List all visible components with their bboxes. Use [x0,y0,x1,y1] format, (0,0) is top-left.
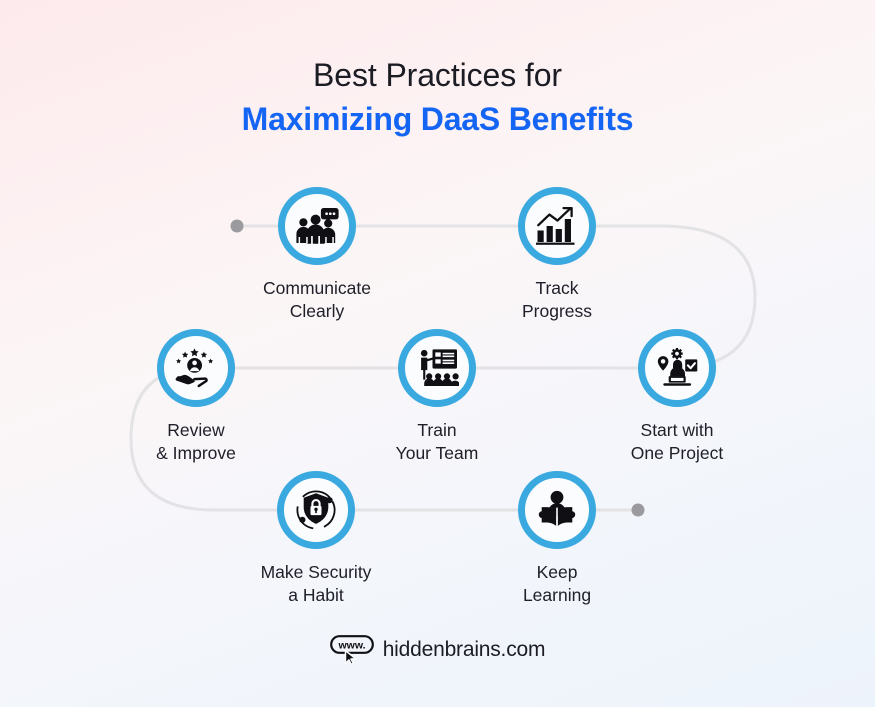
step-node-start-with-one-project[interactable]: Start with One Project [582,329,772,466]
step-node-track-progress[interactable]: Track Progress [462,187,652,324]
step-icon-ring [638,329,716,407]
step-icon-ring [518,187,596,265]
step-label: Start with One Project [582,419,772,466]
step-label: Train Your Team [342,419,532,466]
page-title: Best Practices for Maximizing DaaS Benef… [0,55,875,140]
step-icon-ring [398,329,476,407]
title-line-accent: Maximizing DaaS Benefits [0,99,875,139]
step-node-make-security-a-habit[interactable]: Make Security a Habit [221,471,411,608]
step-label: Review & Improve [101,419,291,466]
step-icon-ring [277,471,355,549]
www-label: www. [337,639,365,651]
people-speech-bubble-icon [295,206,339,246]
title-line-primary: Best Practices for [0,55,875,95]
www-browser-cursor-icon: www. [330,635,374,665]
person-laptop-gear-check-icon [655,348,699,388]
step-icon-ring [278,187,356,265]
step-node-keep-learning[interactable]: Keep Learning [462,471,652,608]
step-label: Make Security a Habit [221,561,411,608]
step-node-communicate-clearly[interactable]: Communicate Clearly [222,187,412,324]
infographic-canvas: Best Practices for Maximizing DaaS Benef… [0,0,875,707]
hand-stars-rating-icon [174,348,218,388]
step-label: Keep Learning [462,561,652,608]
footer-brand[interactable]: www. hiddenbrains.com [0,635,875,665]
step-icon-ring [518,471,596,549]
bar-chart-growth-arrow-icon [536,207,578,245]
person-reading-book-icon [536,490,578,530]
step-icon-ring [157,329,235,407]
step-node-review-and-improve[interactable]: Review & Improve [101,329,291,466]
step-node-train-your-team[interactable]: Train Your Team [342,329,532,466]
step-label: Communicate Clearly [222,277,412,324]
brand-name: hiddenbrains.com [383,638,546,662]
shield-lock-orbit-icon [295,489,337,531]
presenter-board-audience-icon [415,348,459,388]
step-label: Track Progress [462,277,652,324]
